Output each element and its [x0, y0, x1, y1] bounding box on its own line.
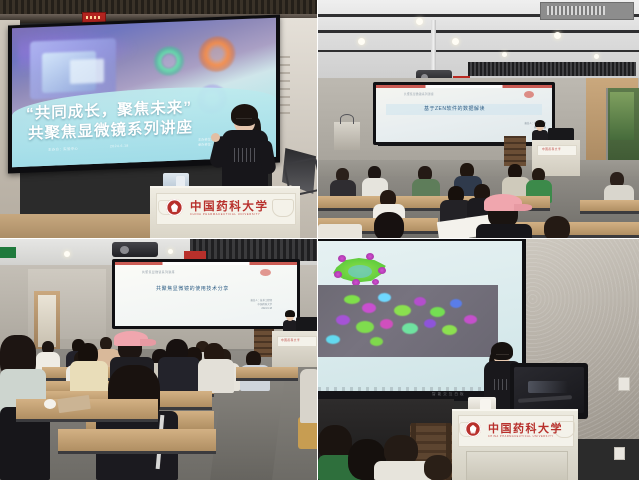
side-lectern — [334, 122, 360, 150]
slide-meta: 报告人：技术工程师 中国药科大学 2024.6.18 — [226, 299, 272, 311]
university-seal-icon — [166, 199, 183, 216]
student-torso — [198, 359, 234, 393]
photo-bottom-right[interactable]: Fig. 共聚焦荧光成像：细胞骨架与细胞核双标记 Scale bar = 20 … — [318, 239, 639, 480]
photo-top-left[interactable]: “共同成长，聚焦未来” 共聚焦显微镜系列讲座 主办方：实验中心 2024.6.1… — [0, 0, 318, 239]
cap-brim — [140, 339, 156, 346]
photo-top-right[interactable]: 共聚焦显微镜系列讲座 基于ZEN软件的数据解读 报告人：技术工程师 蔡司显微镜 … — [318, 0, 639, 239]
fluorescent-structure — [394, 305, 411, 316]
air-vent-icon — [540, 2, 634, 20]
student-head — [544, 216, 570, 239]
cell-marker — [334, 271, 342, 278]
fluorescent-structure — [402, 323, 418, 334]
podium-university-name: 中国药科大学 — [542, 147, 561, 151]
desk-row — [58, 429, 216, 454]
glasses-icon — [496, 354, 509, 358]
fluorescent-structure — [424, 319, 436, 328]
speaker-fist — [211, 133, 220, 142]
ceiling-light — [64, 251, 70, 257]
podium-university-name: 中国药科大学 — [190, 198, 269, 214]
cell-diagram — [332, 253, 392, 287]
slide-top-band — [115, 262, 297, 265]
podium-university-name: 中国药科大学 — [488, 420, 563, 436]
ceiling-rail-3 — [318, 50, 639, 52]
glasses-icon — [236, 118, 252, 123]
whiteboard-label: 智能交互白板 — [432, 392, 466, 397]
tshirt-print — [234, 148, 258, 162]
cell-nucleus — [348, 265, 372, 278]
slide-logo-icon — [260, 269, 271, 276]
podium-university-name-en: CHINA PHARMACEUTICAL UNIVERSITY — [488, 435, 554, 438]
microscope-illustration-stage — [70, 59, 104, 84]
slide-title: 基于ZEN软件的数据解读 — [424, 105, 485, 112]
fluorescent-structure — [378, 293, 391, 302]
fluorescent-structure — [450, 299, 462, 308]
wall-outlet[interactable] — [614, 447, 625, 460]
podium-emboss-right — [272, 199, 294, 217]
cell-marker — [338, 255, 346, 262]
projector-icon — [112, 242, 158, 257]
desk-row — [236, 367, 298, 381]
cell-marker — [378, 267, 386, 274]
podium-front-panel — [466, 451, 568, 480]
ceiling-light — [452, 38, 459, 45]
ceiling-grille — [468, 62, 636, 76]
wooden-floor — [0, 214, 152, 239]
desk-row — [580, 200, 639, 214]
photo-collage: “共同成长，聚焦未来” 共聚焦显微镜系列讲座 主办方：实验中心 2024.6.1… — [0, 0, 639, 480]
wall-outlet[interactable] — [618, 377, 630, 391]
ceiling-light — [594, 54, 599, 59]
slide-logo-icon — [524, 91, 534, 98]
speaker-hair — [285, 310, 295, 317]
cell-marker — [366, 253, 374, 260]
speaker-hair — [535, 120, 545, 127]
fluorescent-structure — [356, 321, 374, 333]
student-head — [374, 212, 404, 239]
podium-university-name: 中国药科大学 — [281, 338, 300, 342]
fluorescent-structure — [442, 325, 457, 335]
student-torso — [476, 224, 532, 239]
podium-university-name-en: CHINA PHARMACEUTICAL UNIVERSITY — [190, 213, 260, 216]
ceiling-light — [416, 18, 423, 25]
fluorescent-cell-orange — [198, 35, 236, 73]
fluorescent-structure — [414, 297, 426, 306]
slide-title: 共聚焦显微镜的使用技术分享 — [156, 285, 229, 292]
projector-mount — [431, 20, 436, 72]
fluorescent-cell-green — [152, 45, 186, 76]
fluorescent-structure — [380, 319, 393, 329]
door-window — [610, 92, 634, 140]
student-head — [424, 455, 452, 480]
slide-header: 共聚焦显微镜系列讲座 — [404, 92, 434, 96]
fluorescent-structure — [336, 315, 350, 325]
ceiling-light — [358, 38, 365, 45]
cap-brim — [514, 204, 532, 211]
slide-top-band — [376, 85, 552, 88]
ceiling-light — [168, 249, 173, 254]
ceiling-light — [502, 52, 507, 57]
microphone-icon — [340, 114, 354, 124]
ceiling-grille — [190, 239, 318, 261]
door-window — [38, 295, 56, 347]
fluorescent-structure — [344, 295, 360, 304]
handout-paper — [437, 218, 470, 239]
fluorescent-structure — [362, 303, 376, 313]
ceiling-rail-2 — [318, 30, 639, 33]
laptop-screen — [318, 224, 362, 239]
slide-meta-center: 2024.6.18 — [110, 144, 129, 149]
slide-meta-line3: 2024.6.18 — [226, 307, 272, 311]
slide-header: 共聚焦显微镜系列讲座 — [142, 270, 175, 274]
fluorescent-structure — [370, 337, 383, 346]
ceiling-light — [554, 32, 561, 39]
fluorescent-structure — [326, 335, 340, 344]
mouse-icon — [44, 399, 56, 409]
fluorescent-structure — [464, 315, 477, 324]
confocal-micrograph: Fig. 共聚焦荧光成像：细胞骨架与细胞核双标记 Scale bar = 20 … — [318, 285, 498, 357]
fluorescent-structure — [430, 307, 445, 317]
wooden-chair — [504, 136, 526, 166]
university-seal-icon — [465, 421, 481, 437]
photo-bottom-left[interactable]: 共聚焦显微镜系列讲座 共聚焦显微镜的使用技术分享 报告人：技术工程师 中国药科大… — [0, 239, 318, 480]
exit-sign-icon — [184, 251, 206, 259]
student-torso — [70, 361, 108, 393]
emergency-exit-icon — [0, 247, 16, 258]
student-torso — [300, 369, 318, 423]
